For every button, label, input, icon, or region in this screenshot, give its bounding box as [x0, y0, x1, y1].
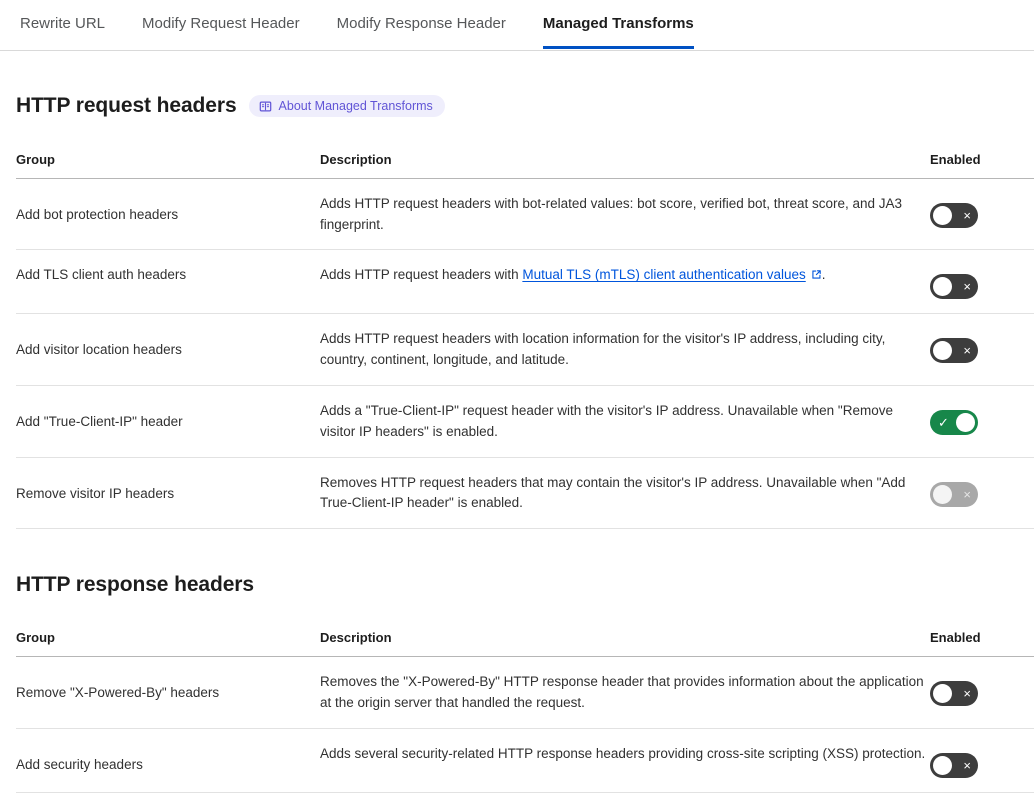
toggle-add-tls-client-auth-headers[interactable]: ×: [930, 274, 978, 299]
about-managed-transforms-link[interactable]: About Managed Transforms: [249, 95, 445, 117]
row-enabled-cell: ×: [930, 728, 1034, 792]
tab-managed-transforms[interactable]: Managed Transforms: [543, 0, 694, 49]
table-row: Add bot protection headers Adds HTTP req…: [16, 178, 1034, 250]
tab-modify-response-header[interactable]: Modify Response Header: [337, 0, 506, 49]
row-group-cell: Remove visitor IP headers: [16, 457, 320, 529]
group-label: Add "True-Client-IP" header: [16, 401, 320, 433]
table-row: Remove "X-Powered-By" headers Removes th…: [16, 656, 1034, 728]
description-text-after: .: [822, 267, 826, 282]
toggle-remove-x-powered-by-headers[interactable]: ×: [930, 681, 978, 706]
transform-tabs: Rewrite URL Modify Request Header Modify…: [0, 0, 1034, 51]
about-badge-label: About Managed Transforms: [279, 99, 433, 113]
toggle-add-security-headers[interactable]: ×: [930, 753, 978, 778]
toggle-remove-visitor-ip-headers: ×: [930, 482, 978, 507]
toggle-mark: ×: [963, 338, 971, 363]
toggle-mark: ✓: [938, 410, 949, 435]
table-row: Add visitor location headers Adds HTTP r…: [16, 314, 1034, 386]
row-enabled-cell: ×: [930, 314, 1034, 386]
group-label: Add bot protection headers: [16, 194, 320, 226]
toggle-add-true-client-ip-header[interactable]: ✓: [930, 410, 978, 435]
toggle-knob: [933, 341, 952, 360]
toggle-knob: [933, 206, 952, 225]
response-section-title: HTTP response headers: [16, 573, 254, 597]
toggle-mark: ×: [963, 274, 971, 299]
toggle-knob: [933, 277, 952, 296]
row-enabled-cell: ✓: [930, 385, 1034, 457]
column-header-enabled: Enabled: [930, 152, 1034, 179]
toggle-add-visitor-location-headers[interactable]: ×: [930, 338, 978, 363]
table-row: Remove visitor IP headers Removes HTTP r…: [16, 457, 1034, 529]
table-row: Add TLS client auth headers Adds HTTP re…: [16, 250, 1034, 314]
toggle-mark: ×: [963, 753, 971, 778]
group-label: Add TLS client auth headers: [16, 265, 320, 286]
row-enabled-cell: ×: [930, 457, 1034, 529]
row-enabled-cell: ×: [930, 656, 1034, 728]
response-section-header: HTTP response headers: [16, 529, 1018, 630]
row-group-cell: Add visitor location headers: [16, 314, 320, 386]
request-section-header: HTTP request headers About Managed Trans…: [16, 51, 1018, 152]
toggle-mark: ×: [963, 681, 971, 706]
tab-modify-request-header[interactable]: Modify Request Header: [142, 0, 300, 49]
external-link-icon[interactable]: [811, 266, 822, 287]
toggle-knob: [933, 684, 952, 703]
row-group-cell: Add "True-Client-IP" header: [16, 385, 320, 457]
group-label: Add visitor location headers: [16, 329, 320, 361]
toggle-knob: [956, 413, 975, 432]
row-group-cell: Add security headers: [16, 728, 320, 792]
table-header-row: Group Description Enabled: [16, 152, 1034, 179]
row-description-cell: Adds a "True-Client-IP" request header w…: [320, 385, 930, 457]
group-label: Add security headers: [16, 744, 320, 776]
toggle-knob: [933, 485, 952, 504]
toggle-knob: [933, 756, 952, 775]
group-label: Remove "X-Powered-By" headers: [16, 672, 320, 704]
table-header-row: Group Description Enabled: [16, 630, 1034, 657]
row-group-cell: Remove "X-Powered-By" headers: [16, 656, 320, 728]
row-description-cell: Adds HTTP request headers with location …: [320, 314, 930, 386]
row-description-cell: Adds HTTP request headers with bot-relat…: [320, 178, 930, 250]
book-icon: [259, 100, 272, 113]
http-response-headers-section: HTTP response headers Group Description …: [0, 529, 1034, 800]
column-header-enabled: Enabled: [930, 630, 1034, 657]
row-description-cell: Removes the "X-Powered-By" HTTP response…: [320, 656, 930, 728]
row-description-cell: Removes HTTP request headers that may co…: [320, 457, 930, 529]
group-label: Remove visitor IP headers: [16, 473, 320, 505]
toggle-mark: ×: [963, 203, 971, 228]
row-enabled-cell: ×: [930, 178, 1034, 250]
bottom-spacer: [16, 793, 1018, 801]
description-text-before: Adds HTTP request headers with: [320, 267, 522, 282]
toggle-add-bot-protection-headers[interactable]: ×: [930, 203, 978, 228]
toggle-mark: ×: [963, 482, 971, 507]
column-header-group: Group: [16, 630, 320, 657]
row-description-cell: Adds several security-related HTTP respo…: [320, 728, 930, 792]
row-group-cell: Add TLS client auth headers: [16, 250, 320, 314]
request-headers-table: Group Description Enabled Add bot protec…: [16, 152, 1034, 529]
table-row: Add security headers Adds several securi…: [16, 728, 1034, 792]
tab-rewrite-url[interactable]: Rewrite URL: [20, 0, 105, 49]
table-row: Add "True-Client-IP" header Adds a "True…: [16, 385, 1034, 457]
column-header-group: Group: [16, 152, 320, 179]
row-description-cell: Adds HTTP request headers with Mutual TL…: [320, 250, 930, 314]
request-section-title: HTTP request headers: [16, 94, 237, 118]
column-header-description: Description: [320, 152, 930, 179]
row-group-cell: Add bot protection headers: [16, 178, 320, 250]
mtls-docs-link[interactable]: Mutual TLS (mTLS) client authentication …: [522, 267, 805, 282]
http-request-headers-section: HTTP request headers About Managed Trans…: [0, 51, 1034, 529]
column-header-description: Description: [320, 630, 930, 657]
response-headers-table: Group Description Enabled Remove "X-Powe…: [16, 630, 1034, 793]
row-enabled-cell: ×: [930, 250, 1034, 314]
